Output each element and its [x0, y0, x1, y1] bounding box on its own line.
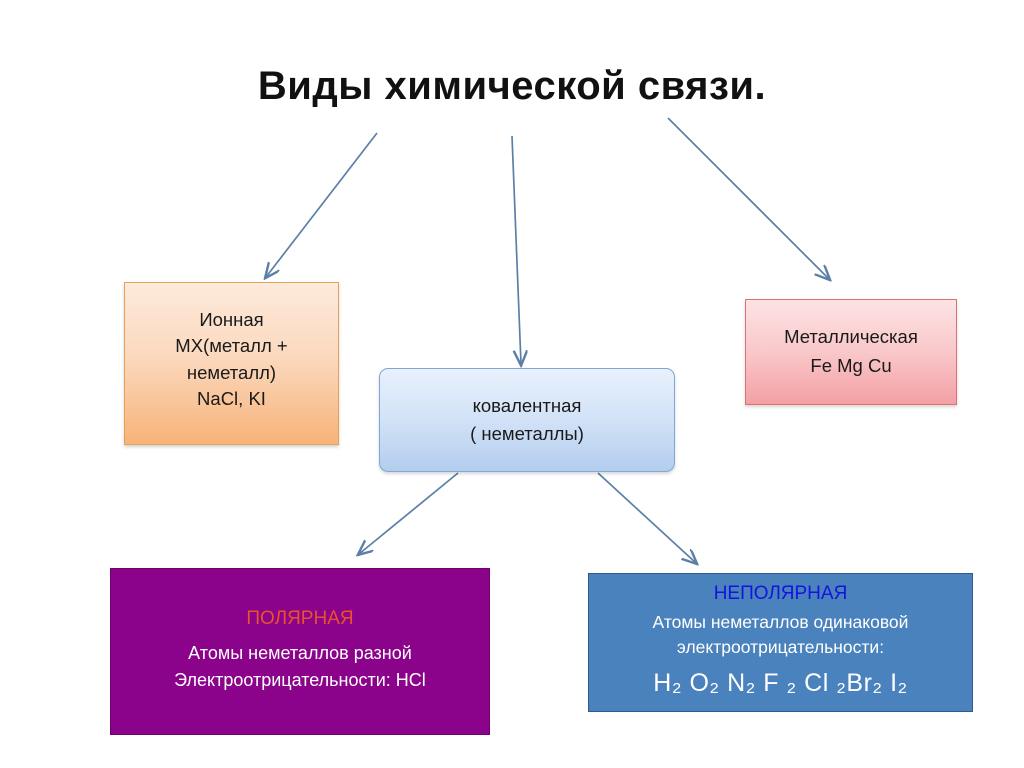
nonpolar-line-1: Атомы неметаллов одинаковой — [653, 610, 909, 635]
polar-line-1: Атомы неметаллов разной — [188, 640, 412, 667]
polar-line-2: Электроотрицательности: HCl — [174, 667, 426, 694]
ionic-line-3: неметалл) — [187, 360, 276, 386]
page-title: Виды химической связи. — [0, 64, 1024, 109]
node-ionic-bond: Ионная MX(металл + неметалл) NaCl, KI — [124, 282, 339, 445]
arrow-title-to-covalent — [512, 136, 521, 364]
covalent-line-2: ( неметаллы) — [470, 420, 584, 448]
slide-canvas: Виды химической связи. Ионная MX(металл … — [0, 0, 1024, 768]
nonpolar-heading: НЕПОЛЯРНАЯ — [714, 580, 848, 608]
node-polar-covalent: ПОЛЯРНАЯ Атомы неметаллов разной Электро… — [110, 568, 490, 735]
arrow-title-to-ionic — [266, 133, 377, 277]
node-covalent-bond: ковалентная ( неметаллы) — [379, 368, 675, 472]
ionic-line-1: Ионная — [199, 307, 263, 333]
polar-heading: ПОЛЯРНАЯ — [246, 605, 353, 634]
ionic-line-4: NaCl, KI — [197, 386, 266, 412]
arrow-title-to-metallic — [668, 118, 829, 279]
arrow-covalent-to-nonpolar — [598, 473, 696, 563]
nonpolar-formulas: H₂ O₂ N₂ F ₂ Cl ₂Br₂ I₂ — [653, 665, 907, 701]
nonpolar-line-2: электроотрицательности: — [677, 635, 884, 660]
metallic-line-2: Fe Mg Cu — [810, 352, 891, 381]
ionic-line-2: MX(металл + — [175, 333, 287, 359]
arrow-covalent-to-polar — [359, 473, 458, 554]
node-nonpolar-covalent: НЕПОЛЯРНАЯ Атомы неметаллов одинаковой э… — [588, 573, 973, 712]
metallic-line-1: Металлическая — [784, 323, 918, 352]
node-metallic-bond: Металлическая Fe Mg Cu — [745, 299, 957, 405]
covalent-line-1: ковалентная — [473, 392, 582, 420]
